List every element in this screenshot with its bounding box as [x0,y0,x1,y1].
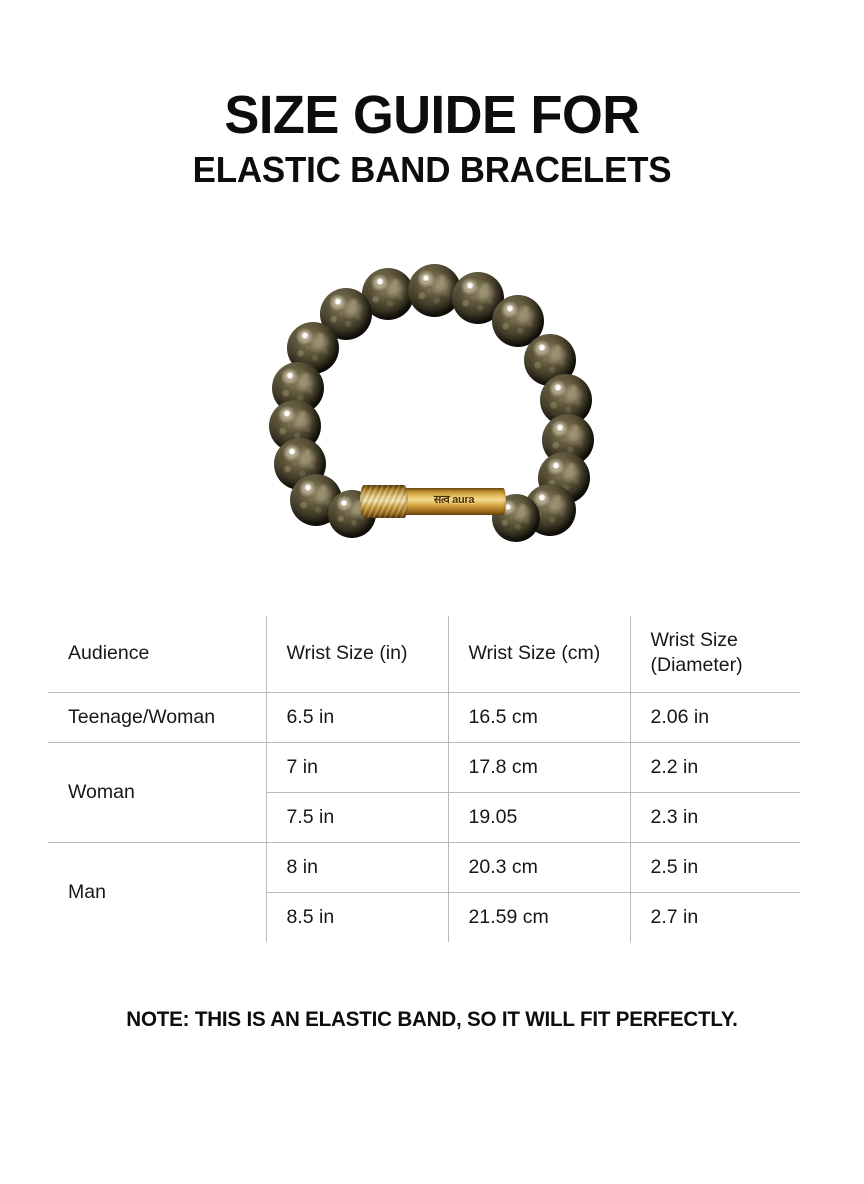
page-title: SIZE GUIDE FOR [13,88,851,142]
cell-wrist-diameter: 2.7 in [630,893,800,943]
cell-wrist-in: 6.5 in [266,693,448,743]
table-row: Man 8 in 20.3 cm 2.5 in [48,843,800,893]
column-header-wrist-diameter: Wrist Size (Diameter) [630,616,800,693]
elastic-band-note: NOTE: THIS IS AN ELASTIC BAND, SO IT WIL… [9,1008,856,1032]
cell-audience: Teenage/Woman [48,693,266,743]
column-header-audience: Audience [48,616,266,693]
cell-wrist-in: 7.5 in [266,793,448,843]
bracelet-bead-ring: सत्व aura [252,262,604,562]
bracelet-clasp: सत्व aura [360,485,506,518]
page-header: SIZE GUIDE FOR ELASTIC BAND BRACELETS [0,88,864,188]
table-row: Teenage/Woman 6.5 in 16.5 cm 2.06 in [48,693,800,743]
clasp-end-cap [360,485,408,518]
cell-audience: Man [48,843,266,943]
cell-wrist-in: 8 in [266,843,448,893]
column-header-wrist-cm: Wrist Size (cm) [448,616,630,693]
cell-wrist-in: 7 in [266,743,448,793]
cell-audience: Woman [48,743,266,843]
cell-wrist-cm: 16.5 cm [448,693,630,743]
cell-wrist-diameter: 2.5 in [630,843,800,893]
table-row: Woman 7 in 17.8 cm 2.2 in [48,743,800,793]
product-image-bracelet: सत्व aura [252,262,604,562]
cell-wrist-cm: 20.3 cm [448,843,630,893]
cell-wrist-diameter: 2.06 in [630,693,800,743]
cell-wrist-cm: 21.59 cm [448,893,630,943]
cell-wrist-in: 8.5 in [266,893,448,943]
cell-wrist-diameter: 2.3 in [630,793,800,843]
table-header-row: Audience Wrist Size (in) Wrist Size (cm)… [48,616,800,693]
clasp-brand-engraving: सत्व aura [418,494,490,507]
size-chart-table-container: Audience Wrist Size (in) Wrist Size (cm)… [48,616,800,946]
column-header-diameter-line1: Wrist Size [651,628,801,653]
cell-wrist-cm: 19.05 [448,793,630,843]
page-subtitle: ELASTIC BAND BRACELETS [13,152,851,188]
size-chart-table: Audience Wrist Size (in) Wrist Size (cm)… [48,616,800,942]
column-header-diameter-line2: (Diameter) [651,653,801,678]
column-header-wrist-in: Wrist Size (in) [266,616,448,693]
cell-wrist-diameter: 2.2 in [630,743,800,793]
cell-wrist-cm: 17.8 cm [448,743,630,793]
